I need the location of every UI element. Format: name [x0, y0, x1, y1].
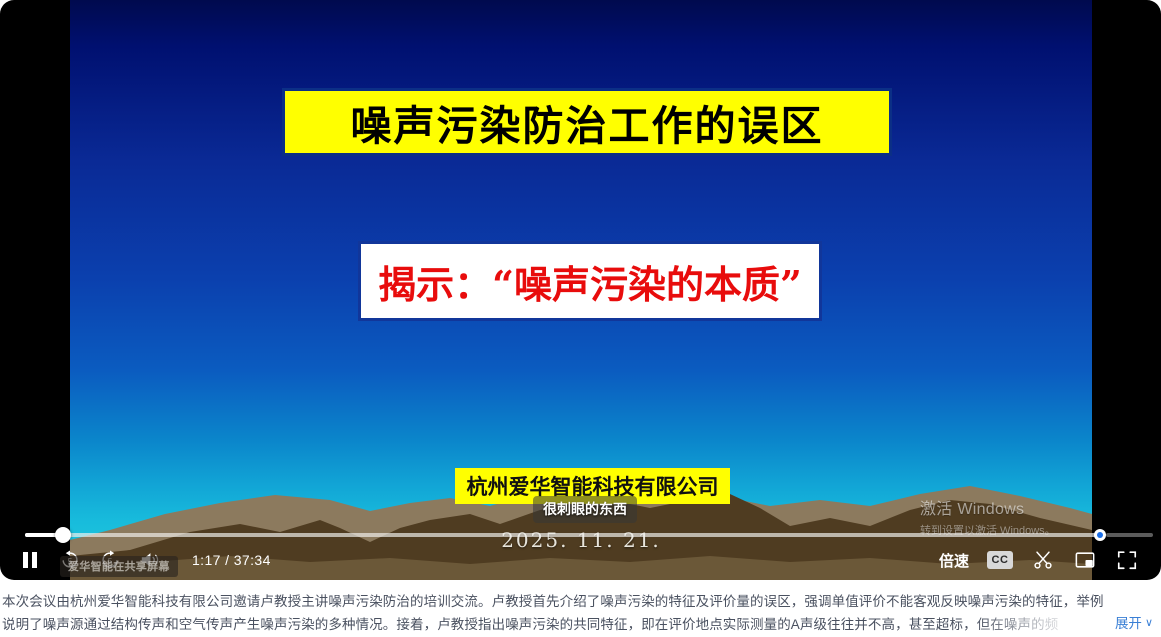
slide-subtitle-box: 揭示：“噪声污染的本质”: [358, 241, 822, 321]
volume-slider-track[interactable]: [1106, 533, 1153, 537]
expand-label: 展开: [1115, 612, 1142, 632]
fullscreen-icon[interactable]: [1115, 548, 1139, 572]
progress-buffered: [25, 533, 1097, 537]
progress-track[interactable]: [25, 533, 1097, 537]
controls-right-group: 倍速 CC: [939, 548, 1161, 572]
slide-title-box: 噪声污染防治工作的误区: [282, 88, 892, 156]
expand-description-button[interactable]: 展开 ∨: [1115, 612, 1153, 632]
video-surface[interactable]: 噪声污染防治工作的误区 揭示：“噪声污染的本质” 杭州爱华智能科技有限公司 20…: [70, 0, 1092, 580]
closed-caption-button[interactable]: CC: [987, 551, 1013, 569]
time-display: 1:17 / 37:34: [192, 552, 271, 568]
video-description: 本次会议由杭州爱华智能科技有限公司邀请卢教授主讲噪声污染防治的培训交流。卢教授首…: [0, 586, 1161, 637]
screen-share-tooltip: 爱华智能在共享屏幕: [60, 556, 178, 577]
chevron-down-icon: ∨: [1145, 616, 1153, 629]
pause-button[interactable]: [18, 548, 42, 572]
windows-activation-title: 激活 Windows: [920, 495, 1056, 519]
clip-scissors-icon[interactable]: [1031, 548, 1055, 572]
description-line-2: 说明了噪声源通过结构传声和空气传声产生噪声污染的多种情况。接着，卢教授指出噪声污…: [2, 617, 1058, 632]
volume-handle-dot: [1097, 532, 1103, 538]
danmaku-comment: 很刺眼的东西: [533, 496, 637, 523]
slide-title-text: 噪声污染防治工作的误区: [351, 92, 824, 152]
description-line-1: 本次会议由杭州爱华智能科技有限公司邀请卢教授主讲噪声污染防治的培训交流。卢教授首…: [2, 590, 1161, 613]
picture-in-picture-icon[interactable]: [1073, 548, 1097, 572]
slide-subtitle-text: 揭示：“噪声污染的本质”: [378, 254, 802, 309]
video-player[interactable]: 噪声污染防治工作的误区 揭示：“噪声污染的本质” 杭州爱华智能科技有限公司 20…: [0, 0, 1161, 580]
playback-speed-button[interactable]: 倍速: [939, 550, 969, 571]
